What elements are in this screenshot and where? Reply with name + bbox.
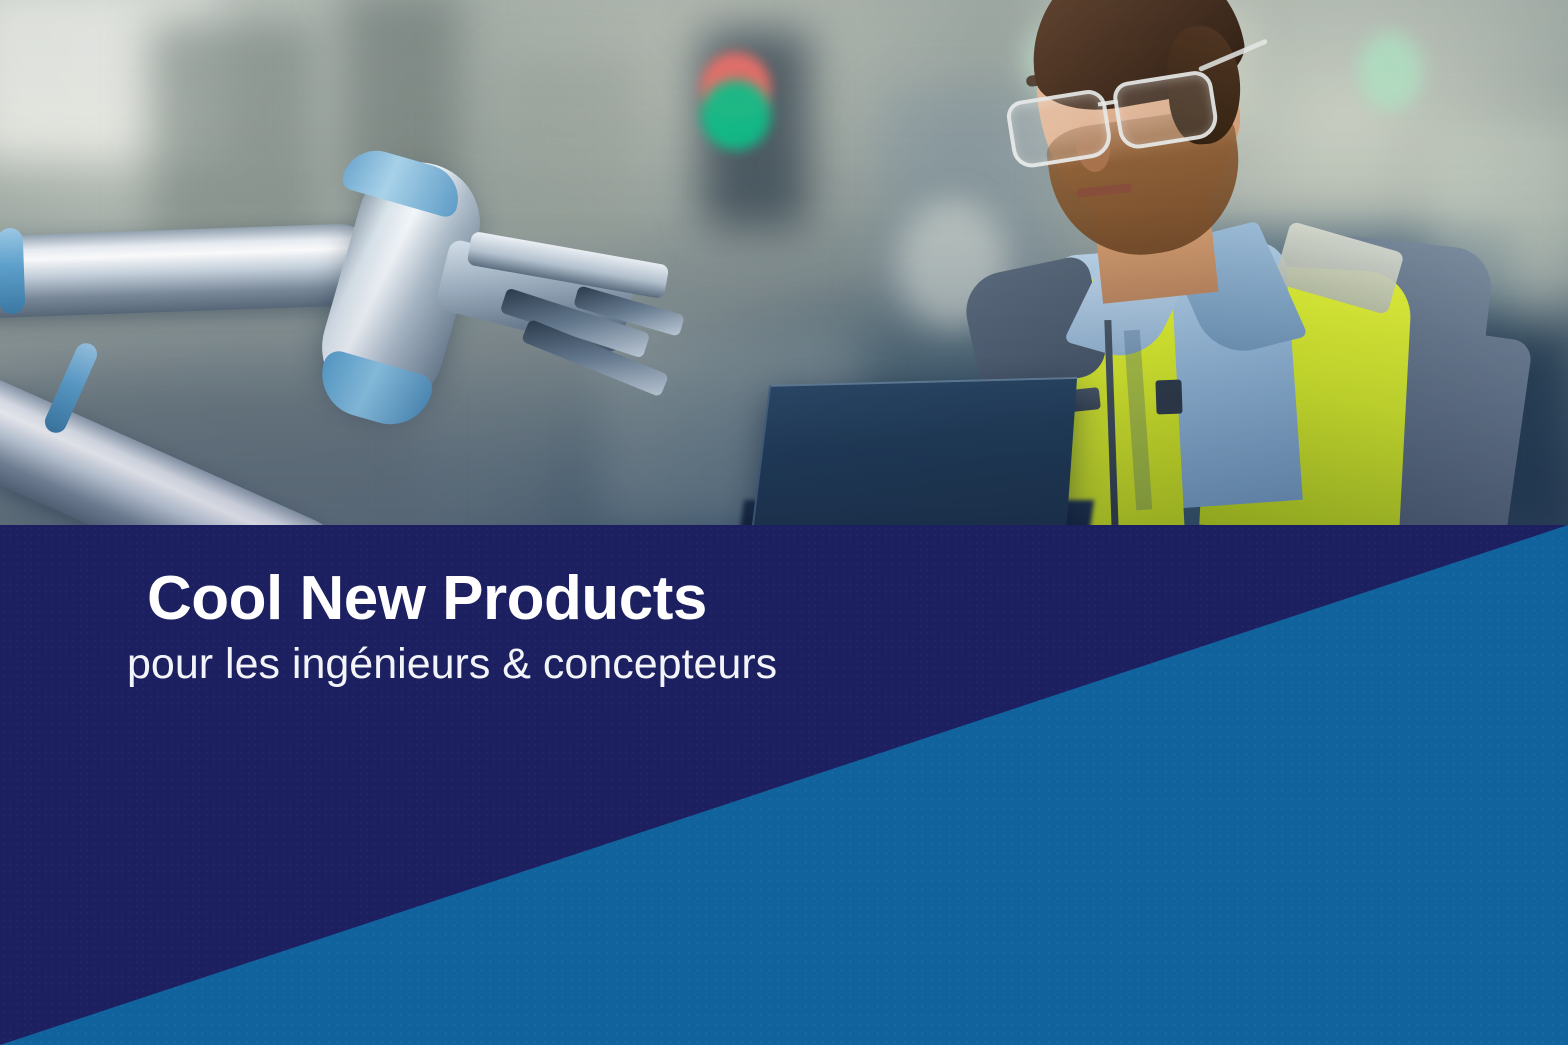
- robot-arm: [0, 150, 720, 526]
- hero-banner: Cool New Products pour les ingénieurs & …: [0, 0, 1568, 1045]
- laptop-screen: [751, 377, 1078, 526]
- bokeh-green-icon: [701, 80, 771, 150]
- robot-joint: [0, 228, 25, 315]
- hero-photo: [0, 0, 1568, 526]
- robot-lower-segment: [0, 344, 358, 526]
- jacket-pocket: [1155, 380, 1182, 415]
- page-title: Cool New Products: [147, 566, 707, 631]
- robot-upper-segment: [0, 223, 381, 320]
- page-subtitle: pour les ingénieurs & concepteurs: [127, 641, 777, 688]
